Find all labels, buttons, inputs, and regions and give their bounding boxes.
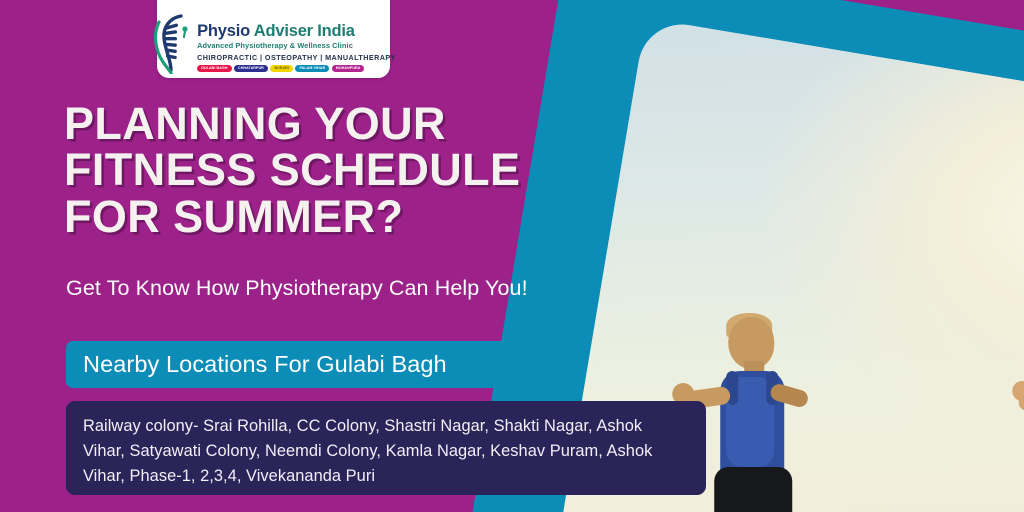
chip-chhatarpur[interactable]: CHHATARPUR <box>234 65 268 72</box>
brand-services: CHIROPRACTIC | OSTEOPATHY | MANUALTHERAP… <box>197 53 396 62</box>
locations-list-text: Railway colony- Srai Rohilla, CC Colony,… <box>83 414 688 489</box>
chip-mohanpura[interactable]: MOHANPURA <box>332 65 365 72</box>
spine-icon <box>151 12 195 74</box>
headline-line-3: FOR SUMMER? <box>64 194 584 240</box>
chip-gulabi-bagh[interactable]: GULABI BAGH <box>197 65 231 72</box>
logo-text-block: Physio Adviser India Advanced Physiother… <box>197 23 396 74</box>
brand-name: Physio Adviser India <box>197 23 355 40</box>
brand-logo-card[interactable]: Physio Adviser India Advanced Physiother… <box>157 0 390 78</box>
nearby-locations-bar: Nearby Locations For Gulabi Bagh <box>66 341 527 388</box>
logo-row: Physio Adviser India Advanced Physiother… <box>151 12 396 74</box>
subheadline: Get To Know How Physiotherapy Can Help Y… <box>66 276 528 301</box>
runner-male <box>670 317 920 512</box>
headline-line-1: PLANNING YOUR <box>64 101 584 147</box>
brand-tagline: Advanced Physiotherapy & Wellness Clinic <box>197 41 353 50</box>
brand-name-part1: Physio <box>197 22 250 40</box>
promo-banner: Physio Adviser India Advanced Physiother… <box>0 0 1024 512</box>
locations-list-panel: Railway colony- Srai Rohilla, CC Colony,… <box>66 401 706 495</box>
brand-location-chips: GULABI BAGH CHHATARPUR BURARI PALAM VIHA… <box>197 65 364 72</box>
headline-line-2: FITNESS SCHEDULE <box>64 147 584 193</box>
page-title: PLANNING YOUR FITNESS SCHEDULE FOR SUMME… <box>64 101 584 240</box>
brand-name-part2: Adviser India <box>254 22 355 40</box>
runner-female <box>1012 317 1024 512</box>
chip-burari[interactable]: BURARI <box>270 65 293 72</box>
chip-palam-vihar[interactable]: PALAM VIHAR <box>295 65 329 72</box>
nearby-locations-title: Nearby Locations For Gulabi Bagh <box>66 351 447 378</box>
